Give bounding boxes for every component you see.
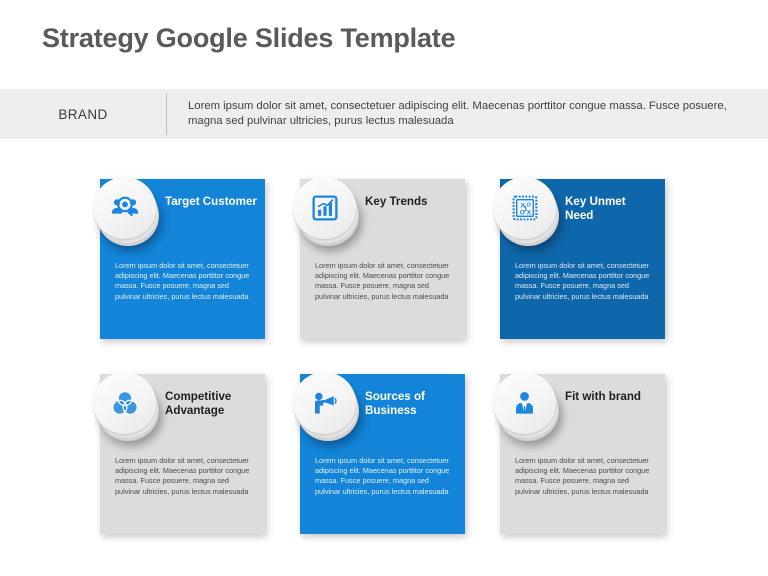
card-target-customer[interactable]: Target Customer Lorem ipsum dolor sit am… — [90, 169, 265, 339]
card-icon-puck — [93, 177, 159, 243]
card-body: Lorem ipsum dolor sit amet, consectetuer… — [515, 261, 653, 302]
puck-top-layer — [93, 372, 156, 434]
card-icon-puck — [293, 372, 359, 438]
card-title: Key Unmet Need — [565, 195, 657, 223]
puck-top-layer — [93, 177, 156, 239]
venn-diagram-icon — [111, 389, 139, 417]
card-icon-puck: X O O X — [493, 177, 559, 243]
card-title: Sources of Business — [365, 390, 457, 418]
card-grid: Target Customer Lorem ipsum dolor sit am… — [0, 160, 768, 560]
target-customer-icon — [110, 193, 140, 223]
page-title: Strategy Google Slides Template — [42, 23, 455, 54]
bar-chart-icon — [311, 194, 339, 222]
strategy-board-icon: X O O X — [511, 194, 539, 222]
card-key-unmet-need[interactable]: Key Unmet Need Lorem ipsum dolor sit ame… — [490, 169, 665, 339]
card-title: Competitive Advantage — [165, 390, 257, 418]
card-icon-puck — [293, 177, 359, 243]
puck-top-layer: X O O X — [493, 177, 556, 239]
card-title: Target Customer — [165, 195, 257, 209]
brand-label: BRAND — [0, 107, 166, 122]
brand-bar: BRAND Lorem ipsum dolor sit amet, consec… — [0, 89, 768, 139]
businessman-icon — [511, 390, 538, 417]
puck-top-layer — [293, 177, 356, 239]
card-title: Fit with brand — [565, 390, 657, 404]
card-icon-puck — [93, 372, 159, 438]
card-body: Lorem ipsum dolor sit amet, consectetuer… — [115, 261, 253, 302]
svg-text:X: X — [526, 209, 531, 216]
card-body: Lorem ipsum dolor sit amet, consectetuer… — [515, 456, 653, 497]
card-key-trends[interactable]: Key Trends Lorem ipsum dolor sit amet, c… — [290, 169, 465, 339]
megaphone-person-icon — [311, 389, 339, 417]
svg-text:O: O — [526, 202, 531, 208]
brand-description: Lorem ipsum dolor sit amet, consectetuer… — [188, 99, 728, 130]
slide-canvas: Strategy Google Slides Template BRAND Lo… — [0, 0, 768, 576]
card-body: Lorem ipsum dolor sit amet, consectetuer… — [115, 456, 253, 497]
card-sources-of-business[interactable]: Sources of Business Lorem ipsum dolor si… — [290, 364, 465, 534]
card-body: Lorem ipsum dolor sit amet, consectetuer… — [315, 261, 453, 302]
card-title: Key Trends — [365, 195, 457, 209]
puck-top-layer — [293, 372, 356, 434]
card-competitive-advantage[interactable]: Competitive Advantage Lorem ipsum dolor … — [90, 364, 265, 534]
card-body: Lorem ipsum dolor sit amet, consectetuer… — [315, 456, 453, 497]
brand-divider — [166, 93, 167, 135]
card-fit-with-brand[interactable]: Fit with brand Lorem ipsum dolor sit ame… — [490, 364, 665, 534]
svg-text:O: O — [519, 209, 524, 216]
puck-top-layer — [493, 372, 556, 434]
card-icon-puck — [493, 372, 559, 438]
